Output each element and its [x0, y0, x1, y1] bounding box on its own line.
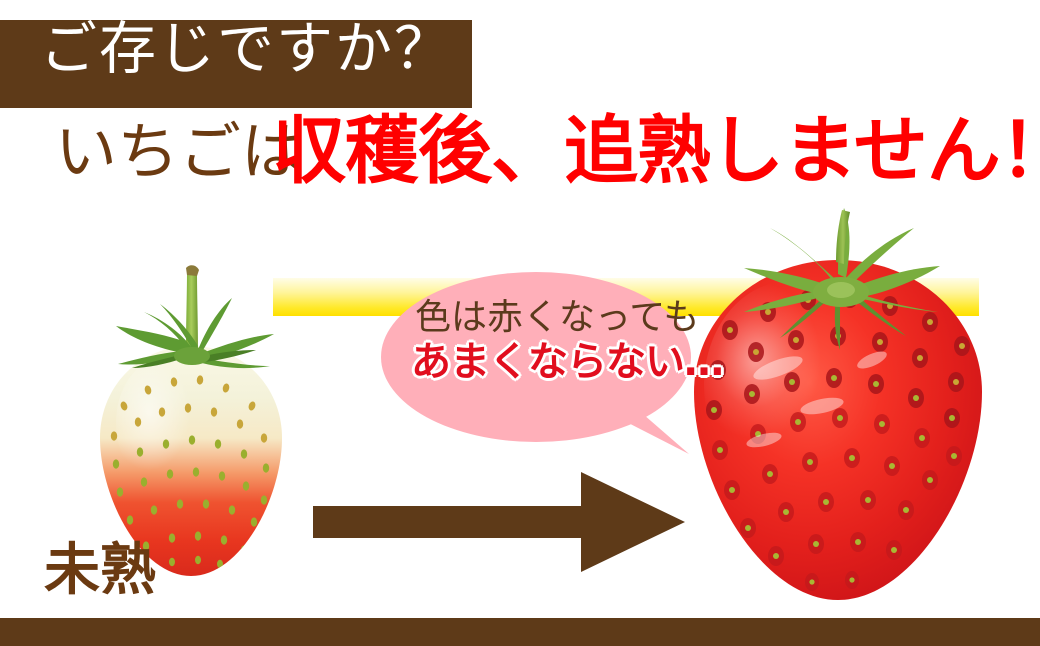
bottom-accent-bar [0, 618, 1040, 646]
subheadline-emphasis-text: 収穫後、追熟しません！ [272, 114, 1040, 188]
progression-arrow [313, 470, 685, 574]
ripe-strawberry-image [682, 200, 994, 620]
speech-bubble-line-2: あまくならない… [411, 342, 723, 382]
unripe-strawberry-caption: 未熟 [44, 542, 156, 598]
headline-banner-text: ご存じですか？ [40, 21, 453, 78]
poster-canvas: ご存じですか？ いちごは 収穫後、追熟しません！ [0, 0, 1040, 646]
speech-bubble: 色は赤くなっても あまくならない… [381, 272, 703, 456]
subheadline-plain-text: いちごは [55, 121, 303, 183]
subheadline: いちごは 収穫後、追熟しません！ [0, 118, 1040, 202]
speech-bubble-line-1: 色は赤くなっても [415, 300, 699, 336]
